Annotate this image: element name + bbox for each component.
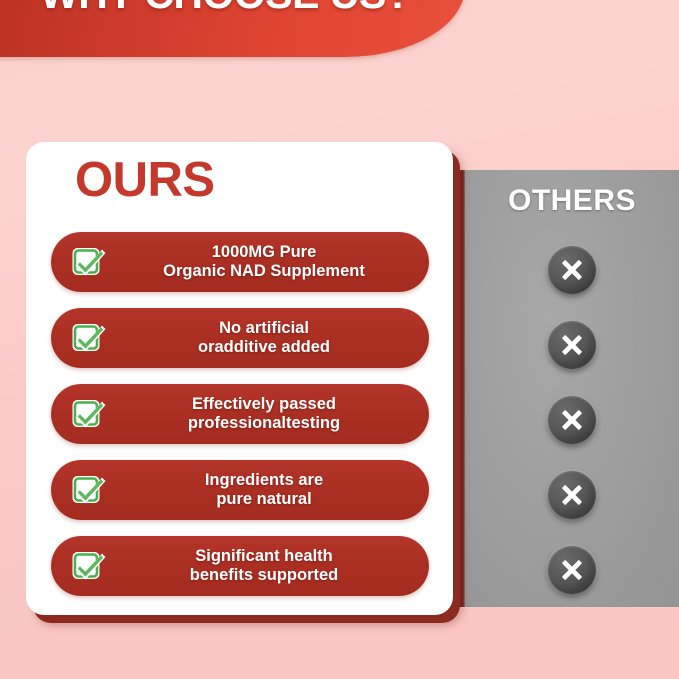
checkbox-icon [69, 318, 109, 358]
checkbox-icon [69, 394, 109, 434]
benefit-label: Ingredients are pure natural [109, 471, 429, 509]
benefit-label: 1000MG Pure Organic NAD Supplement [109, 243, 429, 281]
others-mark-row [465, 382, 679, 457]
benefit-label: Effectively passed professionaltesting [109, 395, 429, 433]
benefit-label: No artificial oradditive added [109, 319, 429, 357]
others-mark-list [465, 232, 679, 607]
cross-icon [548, 246, 596, 294]
cross-icon [548, 546, 596, 594]
page-title: WHY CHOOSE US? [40, 0, 410, 18]
checkbox-icon [69, 546, 109, 586]
others-mark-row [465, 307, 679, 382]
others-mark-row [465, 532, 679, 607]
others-title: OTHERS [465, 184, 679, 218]
checkbox-icon [69, 470, 109, 510]
benefit-row: Effectively passed professionaltesting [51, 384, 429, 444]
benefit-row: Ingredients are pure natural [51, 460, 429, 520]
cross-icon [548, 321, 596, 369]
others-mark-row [465, 232, 679, 307]
checkbox-icon [69, 242, 109, 282]
others-mark-row [465, 457, 679, 532]
header-banner: WHY CHOOSE US? [0, 0, 465, 57]
ours-card: OURS 1000MG Pure Organic NAD Supplement [26, 142, 453, 615]
comparison-infographic: WHY CHOOSE US? OTHERS [0, 0, 679, 679]
cross-icon [548, 471, 596, 519]
others-panel: OTHERS [465, 170, 679, 607]
cross-icon [548, 396, 596, 444]
benefit-row: No artificial oradditive added [51, 308, 429, 368]
benefit-row: Significant health benefits supported [51, 536, 429, 596]
benefit-row: 1000MG Pure Organic NAD Supplement [51, 232, 429, 292]
ours-title: OURS [75, 156, 215, 205]
benefit-label: Significant health benefits supported [109, 547, 429, 585]
ours-benefit-list: 1000MG Pure Organic NAD Supplement No ar… [51, 232, 429, 596]
